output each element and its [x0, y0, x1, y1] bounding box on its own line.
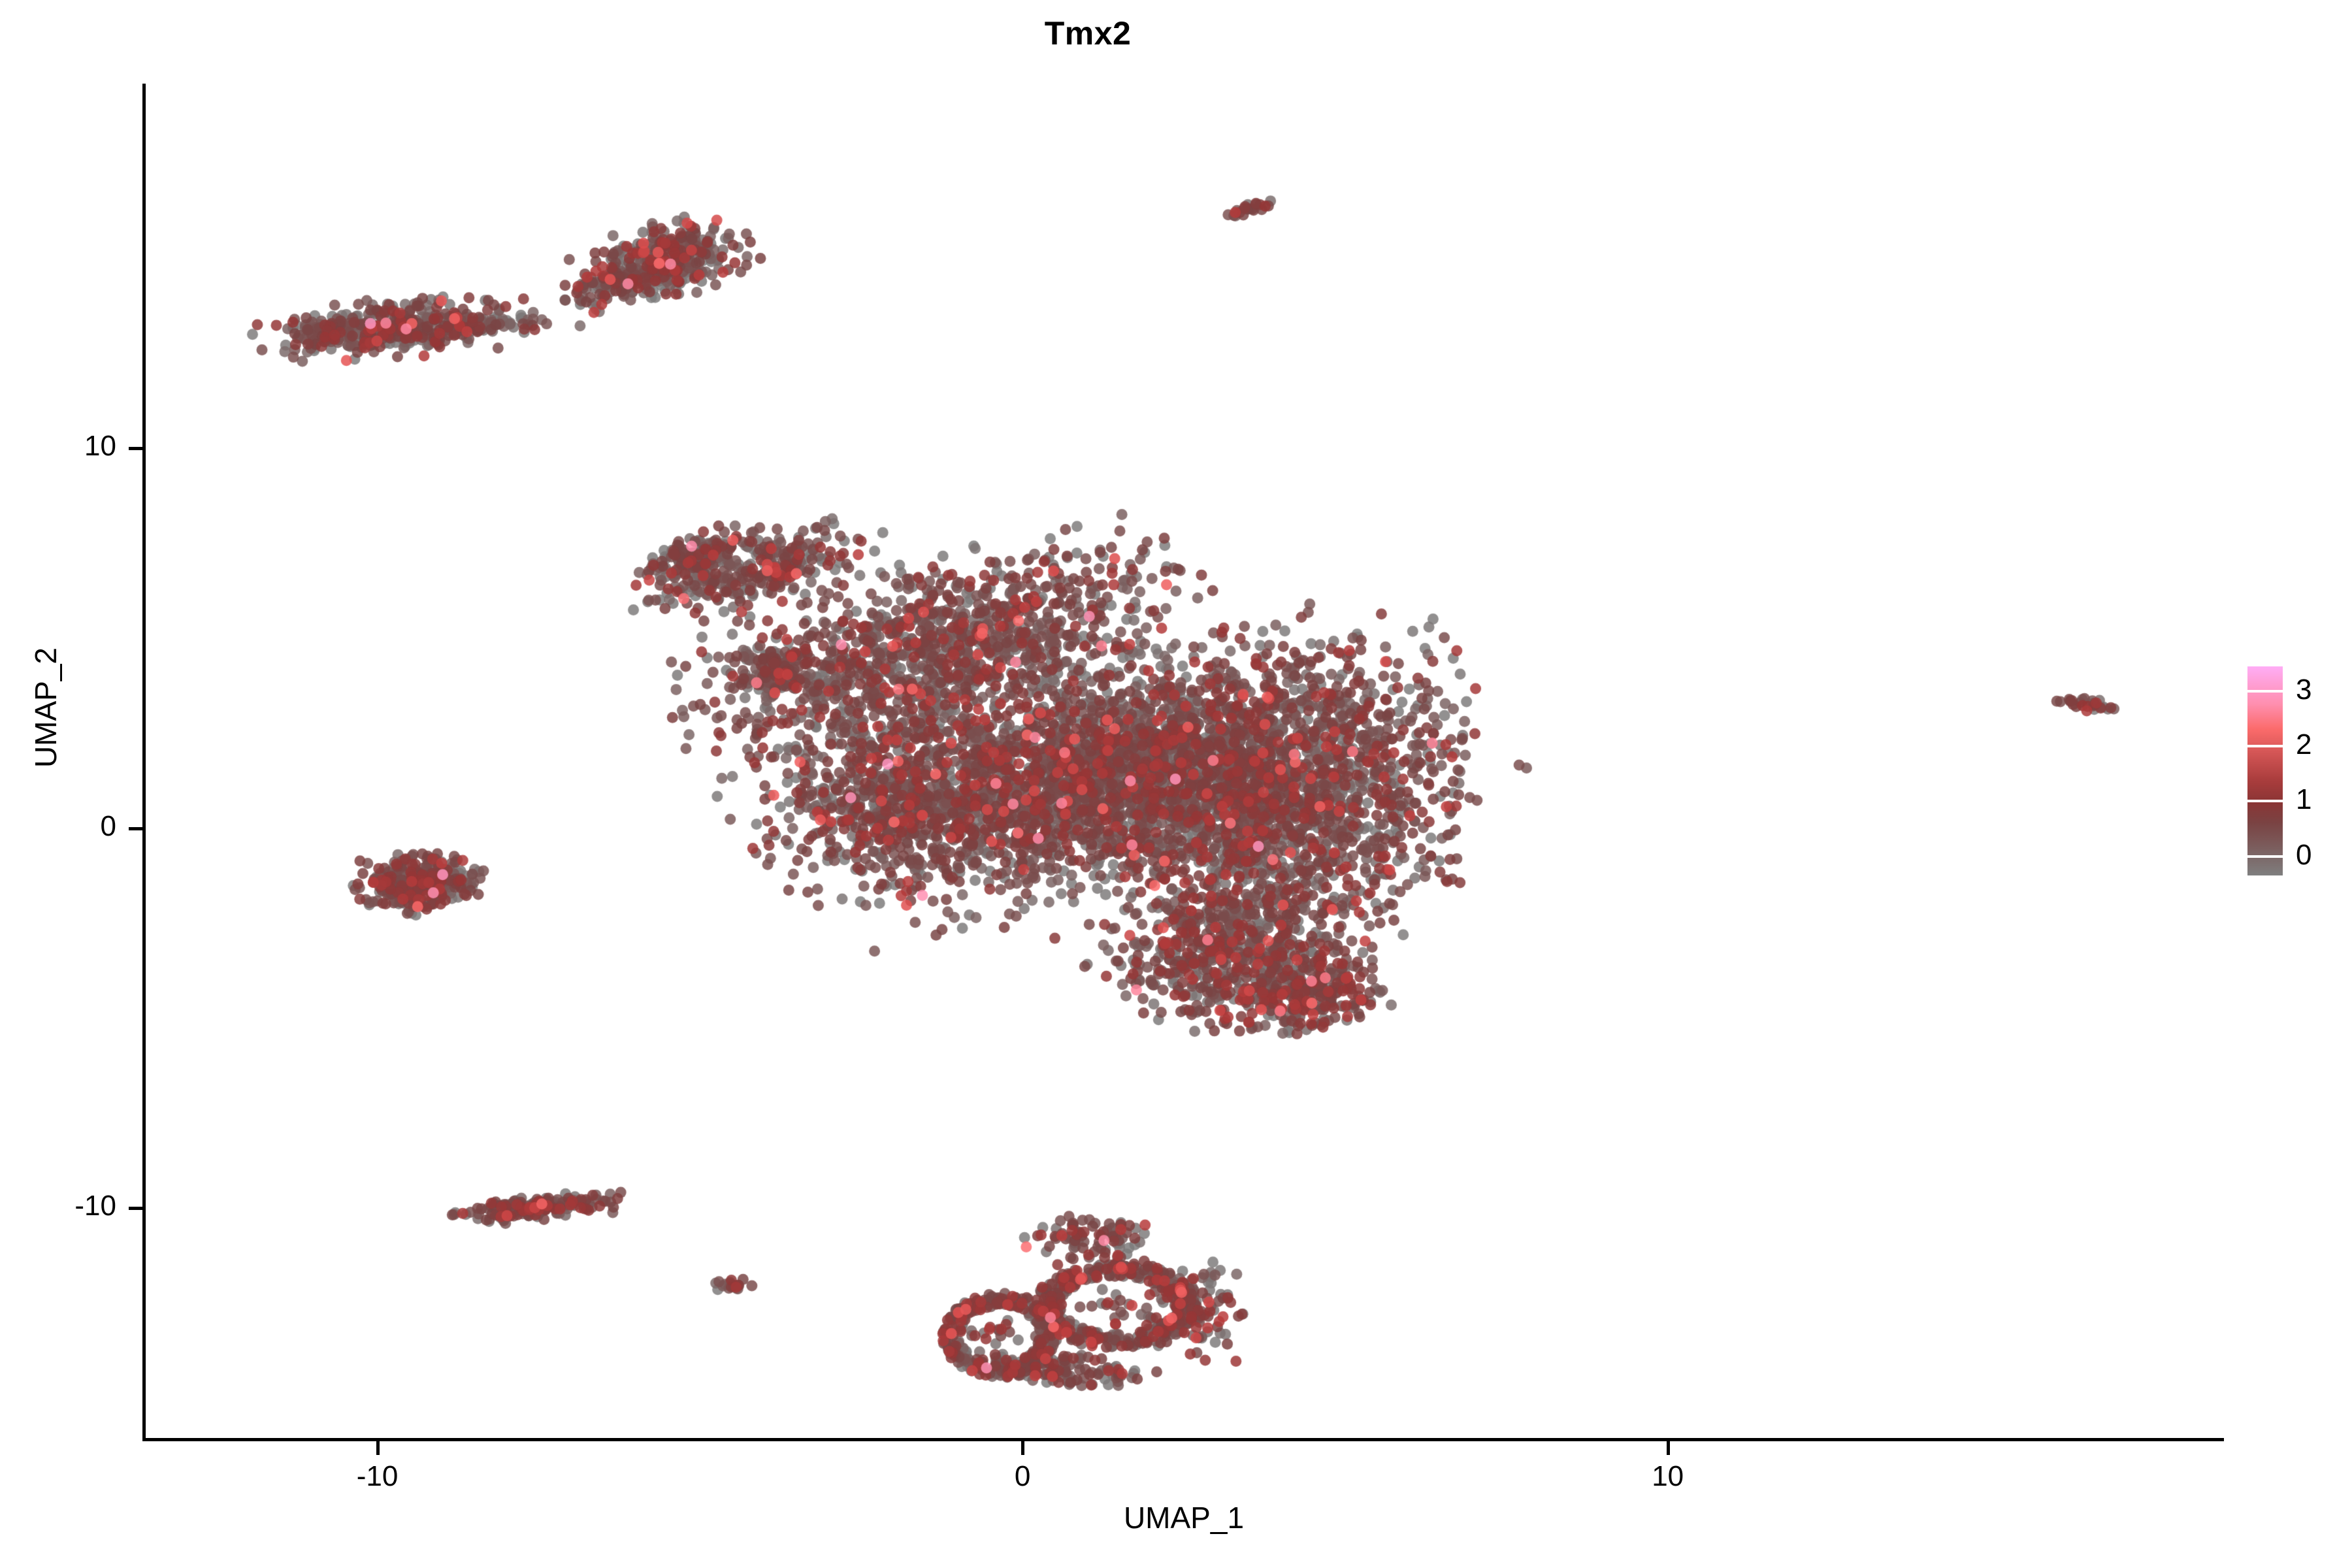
colorbar-tick-mark [2247, 855, 2283, 858]
page-title: Tmx2 [0, 14, 2176, 52]
scatter-points-canvas [145, 84, 2223, 1440]
y-tick-mark [129, 827, 142, 830]
plot-panel [145, 84, 2223, 1440]
y-axis-title-wrap: UMAP_2 [28, 348, 63, 1067]
colorbar-tick-mark [2247, 745, 2283, 747]
y-tick-mark [129, 447, 142, 450]
colorbar-gradient [2247, 666, 2283, 875]
colorbar-tick-label: 3 [2296, 676, 2311, 704]
x-tick-label: -10 [299, 1460, 456, 1493]
umap-feature-plot: Tmx2 -10010 -10010 UMAP_1 UMAP_2 0123 [0, 0, 2352, 1568]
x-tick-mark [1021, 1441, 1024, 1455]
x-tick-label: 10 [1590, 1460, 1746, 1493]
colorbar-tick-mark [2247, 800, 2283, 802]
colorbar-tick-mark [2247, 690, 2283, 693]
x-tick-mark [376, 1441, 380, 1455]
x-axis-title: UMAP_1 [145, 1500, 2223, 1535]
y-tick-mark [129, 1207, 142, 1210]
x-tick-mark [1667, 1441, 1670, 1455]
colorbar-tick-label: 2 [2296, 730, 2311, 759]
colorbar-tick-label: 0 [2296, 841, 2311, 870]
y-axis-title: UMAP_2 [29, 647, 63, 768]
x-axis-line [142, 1438, 2224, 1441]
color-legend: 0123 [2247, 666, 2345, 889]
x-tick-label: 0 [944, 1460, 1101, 1493]
y-tick-label: -10 [0, 1190, 116, 1222]
colorbar-tick-label: 1 [2296, 785, 2311, 814]
y-axis-line [142, 84, 146, 1441]
